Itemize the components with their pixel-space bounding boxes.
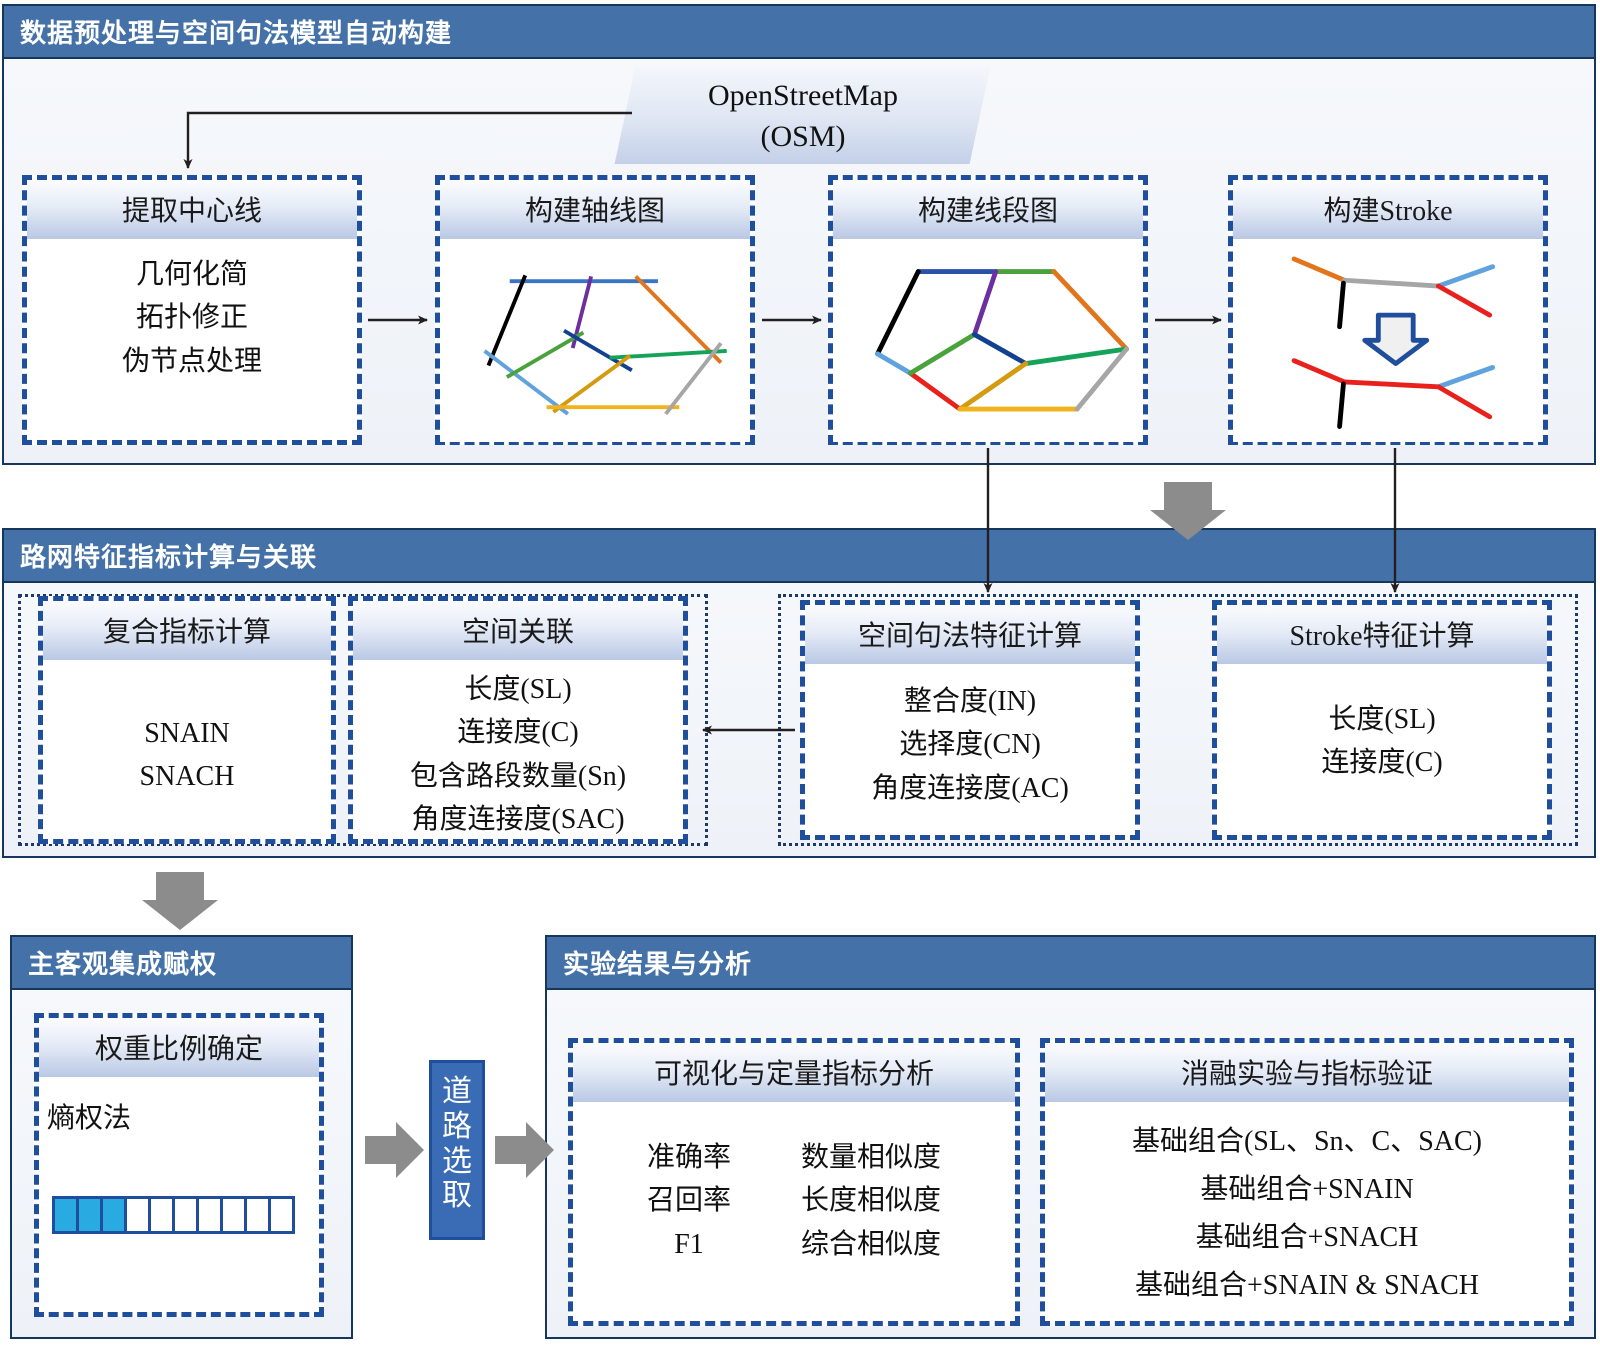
card-build-segment-map-title: 构建线段图 [833,180,1143,239]
card-space-syntax-features[interactable]: 空间句法特征计算 整合度(IN) 选择度(CN) 角度连接度(AC) [800,600,1140,840]
card-weight-ratio-title: 权重比例确定 [39,1018,319,1077]
card-ablation-study-body: 基础组合(SL、Sn、C、SAC) 基础组合+SNAIN 基础组合+SNACH … [1045,1102,1569,1318]
weight-cell-1[interactable] [52,1196,79,1234]
card-extract-centerline-body: 几何化简 拓扑修正 伪节点处理 [27,239,357,437]
quant-right-2: 综合相似度 [801,1223,941,1266]
quant-right-0: 数量相似度 [801,1136,941,1179]
card-stroke-features-body: 长度(SL) 连接度(C) [1217,664,1547,832]
quant-left-0: 准确率 [647,1136,731,1179]
card-build-stroke-title: 构建Stroke [1233,180,1543,239]
ablation-item-1: 基础组合+SNAIN [1045,1166,1569,1214]
spatial-join-item-0: 长度(SL) [353,668,683,711]
syntax-item-2: 角度连接度(AC) [805,767,1135,810]
card-weight-ratio-body: 熵权法 层次分析法 [39,1077,319,1309]
osm-source-label: OpenStreetMap (OSM) [628,76,978,157]
card-weight-ratio[interactable]: 权重比例确定 熵权法 层次分析法 [34,1013,324,1317]
gray-arrow-weighting-to-selection [365,1122,424,1178]
osm-line-2: (OSM) [628,117,978,158]
card-spatial-join[interactable]: 空间关联 长度(SL) 连接度(C) 包含路段数量(Sn) 角度连接度(SAC) [348,596,688,844]
ablation-item-2: 基础组合+SNACH [1045,1214,1569,1262]
weight-cell-5[interactable] [148,1196,175,1234]
extract-item-2: 伪节点处理 [27,340,357,383]
card-build-axial-map[interactable]: 构建轴线图 [435,175,755,445]
card-composite-index-title: 复合指标计算 [43,601,331,660]
road-selection-button[interactable]: 道 路 选 取 [429,1060,485,1240]
extract-item-1: 拓扑修正 [27,296,357,339]
spatial-join-item-1: 连接度(C) [353,711,683,754]
composite-item-1: SNACH [43,755,331,798]
down-arrow-icon [1365,315,1427,363]
stroke-illustration [1233,239,1543,429]
card-quantitative-analysis[interactable]: 可视化与定量指标分析 准确率 召回率 F1 数量相似度 长度相似度 综合相似度 [568,1038,1020,1326]
stroke-feat-item-0: 长度(SL) [1217,698,1547,741]
card-build-stroke-figure [1233,239,1543,442]
road-selection-char-3: 取 [432,1179,482,1214]
section-title-feature-metrics: 路网特征指标计算与关联 [4,530,1594,583]
card-build-stroke[interactable]: 构建Stroke [1228,175,1548,445]
osm-line-1: OpenStreetMap [628,76,978,117]
card-spatial-join-title: 空间关联 [353,601,683,660]
syntax-item-1: 选择度(CN) [805,723,1135,766]
syntax-item-0: 整合度(IN) [805,680,1135,723]
quant-left-column: 准确率 召回率 F1 [647,1136,731,1266]
section-title-preprocessing: 数据预处理与空间句法模型自动构建 [4,6,1594,59]
weight-cell-7[interactable] [196,1196,223,1234]
card-composite-index[interactable]: 复合指标计算 SNAIN SNACH [38,596,336,844]
quant-left-2: F1 [647,1223,731,1266]
card-quantitative-analysis-title: 可视化与定量指标分析 [573,1043,1015,1102]
card-space-syntax-features-title: 空间句法特征计算 [805,605,1135,664]
card-build-axial-map-figure [440,239,750,442]
road-selection-char-2: 选 [432,1145,482,1180]
composite-item-0: SNAIN [43,712,331,755]
spatial-join-item-2: 包含路段数量(Sn) [353,755,683,798]
ablation-item-3: 基础组合+SNAIN & SNACH [1045,1262,1569,1310]
card-space-syntax-features-body: 整合度(IN) 选择度(CN) 角度连接度(AC) [805,664,1135,832]
quant-right-1: 长度相似度 [801,1179,941,1222]
card-ablation-study[interactable]: 消融实验与指标验证 基础组合(SL、Sn、C、SAC) 基础组合+SNAIN 基… [1040,1038,1574,1326]
gray-arrow-stage2-to-stage3 [142,872,218,930]
section-title-weighting: 主客观集成赋权 [12,937,351,990]
weight-cell-4[interactable] [124,1196,151,1234]
weight-cell-8[interactable] [220,1196,247,1234]
weight-method-entropy: 熵权法 [39,1097,319,1140]
section-title-results: 实验结果与分析 [547,937,1594,990]
weight-cell-10[interactable] [268,1196,295,1234]
axial-map-illustration [440,239,750,429]
road-selection-char-0: 道 [432,1075,482,1110]
card-build-segment-map-figure [833,239,1143,442]
card-spatial-join-body: 长度(SL) 连接度(C) 包含路段数量(Sn) 角度连接度(SAC) [353,660,683,836]
segment-map-illustration [833,239,1143,429]
card-quantitative-analysis-body: 准确率 召回率 F1 数量相似度 长度相似度 综合相似度 [573,1102,1015,1318]
card-composite-index-body: SNAIN SNACH [43,660,331,836]
card-stroke-features-title: Stroke特征计算 [1217,605,1547,664]
spatial-join-item-3: 角度连接度(SAC) [353,798,683,841]
card-extract-centerline-title: 提取中心线 [27,180,357,239]
card-extract-centerline[interactable]: 提取中心线 几何化简 拓扑修正 伪节点处理 [22,175,362,445]
quant-left-1: 召回率 [647,1179,731,1222]
weight-cell-6[interactable] [172,1196,199,1234]
weight-cell-2[interactable] [76,1196,103,1234]
stroke-feat-item-1: 连接度(C) [1217,741,1547,784]
card-ablation-study-title: 消融实验与指标验证 [1045,1043,1569,1102]
card-build-axial-map-title: 构建轴线图 [440,180,750,239]
card-stroke-features[interactable]: Stroke特征计算 长度(SL) 连接度(C) [1212,600,1552,840]
diagram-canvas: 数据预处理与空间句法模型自动构建 OpenStreetMap (OSM) 提取中… [0,0,1600,1349]
quant-right-column: 数量相似度 长度相似度 综合相似度 [801,1136,941,1266]
ablation-item-0: 基础组合(SL、Sn、C、SAC) [1045,1118,1569,1166]
card-build-segment-map[interactable]: 构建线段图 [828,175,1148,445]
weight-cell-9[interactable] [244,1196,271,1234]
weight-cell-3[interactable] [100,1196,127,1234]
road-selection-char-1: 路 [432,1110,482,1145]
extract-item-0: 几何化简 [27,253,357,296]
weight-proportion-bar[interactable] [52,1196,292,1234]
